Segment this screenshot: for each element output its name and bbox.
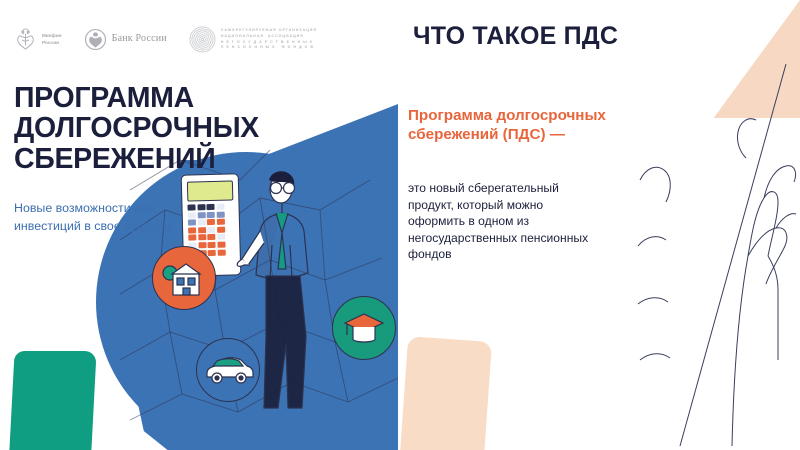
minfin-logo-text: Минфин России	[42, 33, 62, 46]
car-badge	[196, 338, 260, 402]
poster-panel: Минфин России Банк России	[0, 0, 398, 450]
car-icon	[197, 339, 259, 401]
peach-block-decoration	[400, 336, 492, 450]
bank-rossii-eagle-icon	[84, 27, 107, 52]
napf-logo: САМОРЕГУЛИРУЕМАЯ ОРГАНИЗАЦИЯ НАЦИОНАЛЬНА…	[189, 26, 317, 53]
content-panel: ЧТО ТАКОЕ ПДС Программа долгосрочных сбе…	[398, 0, 800, 450]
russian-eagle-icon	[14, 27, 37, 52]
napf-logo-text: САМОРЕГУЛИРУЕМАЯ ОРГАНИЗАЦИЯ НАЦИОНАЛЬНА…	[221, 28, 317, 52]
graduation-cap-badge	[332, 296, 396, 360]
graduation-cap-icon	[333, 297, 395, 359]
lead-paragraph: Программа долгосрочных сбережений (ПДС) …	[408, 107, 666, 145]
bank-rossii-logo: Банк России	[84, 27, 167, 52]
calculator-screen	[187, 180, 234, 201]
bank-rossii-logo-text: Банк России	[112, 32, 167, 47]
green-block-decoration	[9, 351, 96, 450]
poster-title: ПРОГРАММА ДОЛГОСРОЧНЫХ СБЕРЕЖЕНИЙ	[14, 83, 386, 174]
poster-title-line-1: ПРОГРАММА	[14, 83, 386, 113]
logo-row: Минфин России Банк России	[14, 26, 317, 53]
house-icon	[153, 247, 215, 309]
page-title: ЧТО ТАКОЕ ПДС	[413, 22, 618, 51]
hand-line-art	[636, 60, 800, 450]
napf-rings-icon	[189, 26, 216, 53]
minfin-logo: Минфин России	[14, 27, 62, 52]
house-badge	[152, 246, 216, 310]
slide-canvas: Минфин России Банк России	[0, 0, 800, 450]
poster-subtitle: Новые возможности для инвестиций в свое …	[14, 200, 194, 235]
body-paragraph: это новый сберегательный продукт, которы…	[408, 180, 594, 263]
poster-title-line-2: ДОЛГОСРОЧНЫХ	[14, 113, 386, 143]
